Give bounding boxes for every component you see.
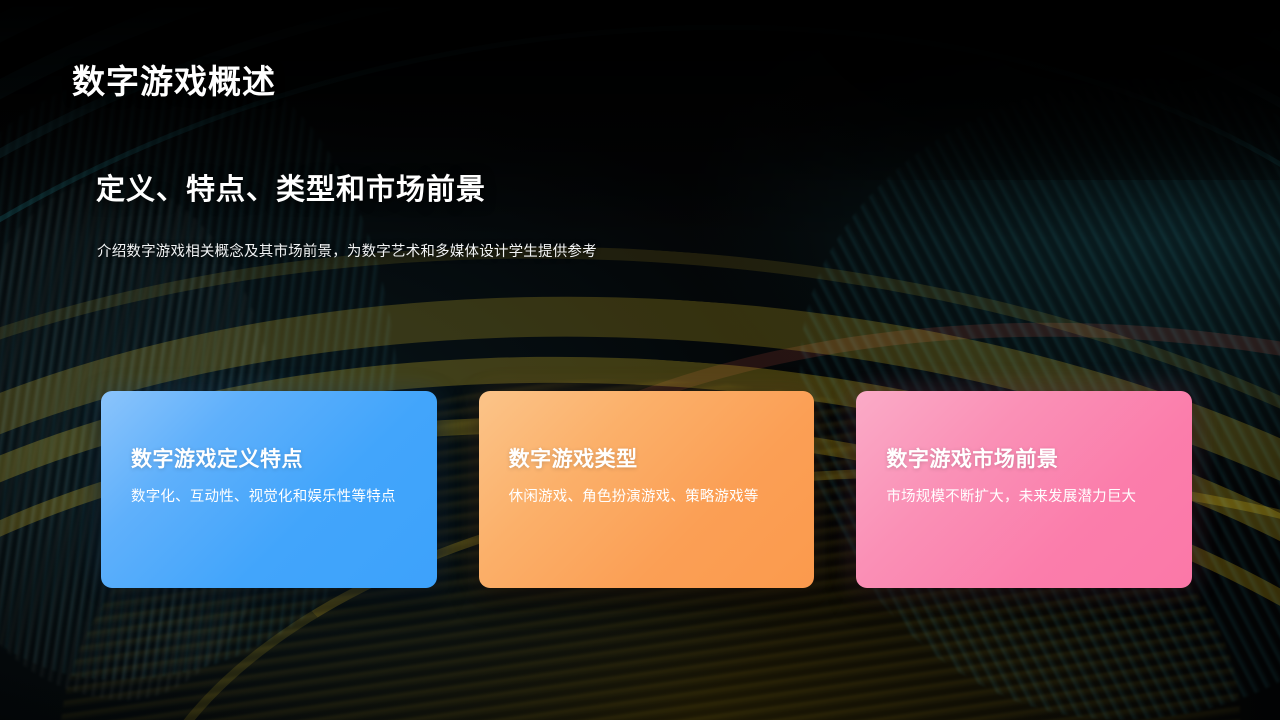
card-definition[interactable]: 数字游戏定义特点 数字化、互动性、视觉化和娱乐性等特点 — [101, 391, 437, 588]
slide-subtitle: 定义、特点、类型和市场前景 — [96, 166, 486, 208]
wave-arc-teal-thin — [0, 0, 1280, 720]
wave-arc-teal-main — [0, 0, 1280, 720]
card-description: 数字化、互动性、视觉化和娱乐性等特点 — [131, 487, 411, 509]
card-market-outlook[interactable]: 数字游戏市场前景 市场规模不断扩大，未来发展潜力巨大 — [856, 391, 1192, 588]
card-content: 数字游戏定义特点 数字化、互动性、视觉化和娱乐性等特点 — [131, 443, 411, 509]
card-types[interactable]: 数字游戏类型 休闲游戏、角色扮演游戏、策略游戏等 — [479, 391, 815, 588]
card-title: 数字游戏类型 — [509, 443, 789, 473]
wave-arc-teal-light — [0, 0, 1280, 720]
card-title: 数字游戏定义特点 — [131, 443, 411, 473]
vignette-edges — [0, 0, 1280, 720]
slide-background — [0, 0, 1280, 720]
card-title: 数字游戏市场前景 — [886, 443, 1166, 473]
wave-arc-teal-dark — [0, 0, 1280, 720]
wave-arc-grey-outer — [0, 0, 1280, 720]
background-wave-art — [0, 0, 1280, 720]
card-description: 市场规模不断扩大，未来发展潜力巨大 — [886, 487, 1166, 509]
vignette-top-right — [760, 0, 1280, 180]
wave-arc-teal-mid — [0, 0, 1280, 720]
card-content: 数字游戏市场前景 市场规模不断扩大，未来发展潜力巨大 — [886, 443, 1166, 509]
slide-description: 介绍数字游戏相关概念及其市场前景，为数字艺术和多媒体设计学生提供参考 — [97, 240, 597, 261]
card-row: 数字游戏定义特点 数字化、互动性、视觉化和娱乐性等特点 数字游戏类型 休闲游戏、… — [101, 391, 1192, 588]
presentation-slide: 数字游戏概述 定义、特点、类型和市场前景 介绍数字游戏相关概念及其市场前景，为数… — [0, 0, 1280, 720]
card-description: 休闲游戏、角色扮演游戏、策略游戏等 — [509, 487, 789, 509]
card-content: 数字游戏类型 休闲游戏、角色扮演游戏、策略游戏等 — [509, 443, 789, 509]
page-title: 数字游戏概述 — [72, 55, 276, 103]
